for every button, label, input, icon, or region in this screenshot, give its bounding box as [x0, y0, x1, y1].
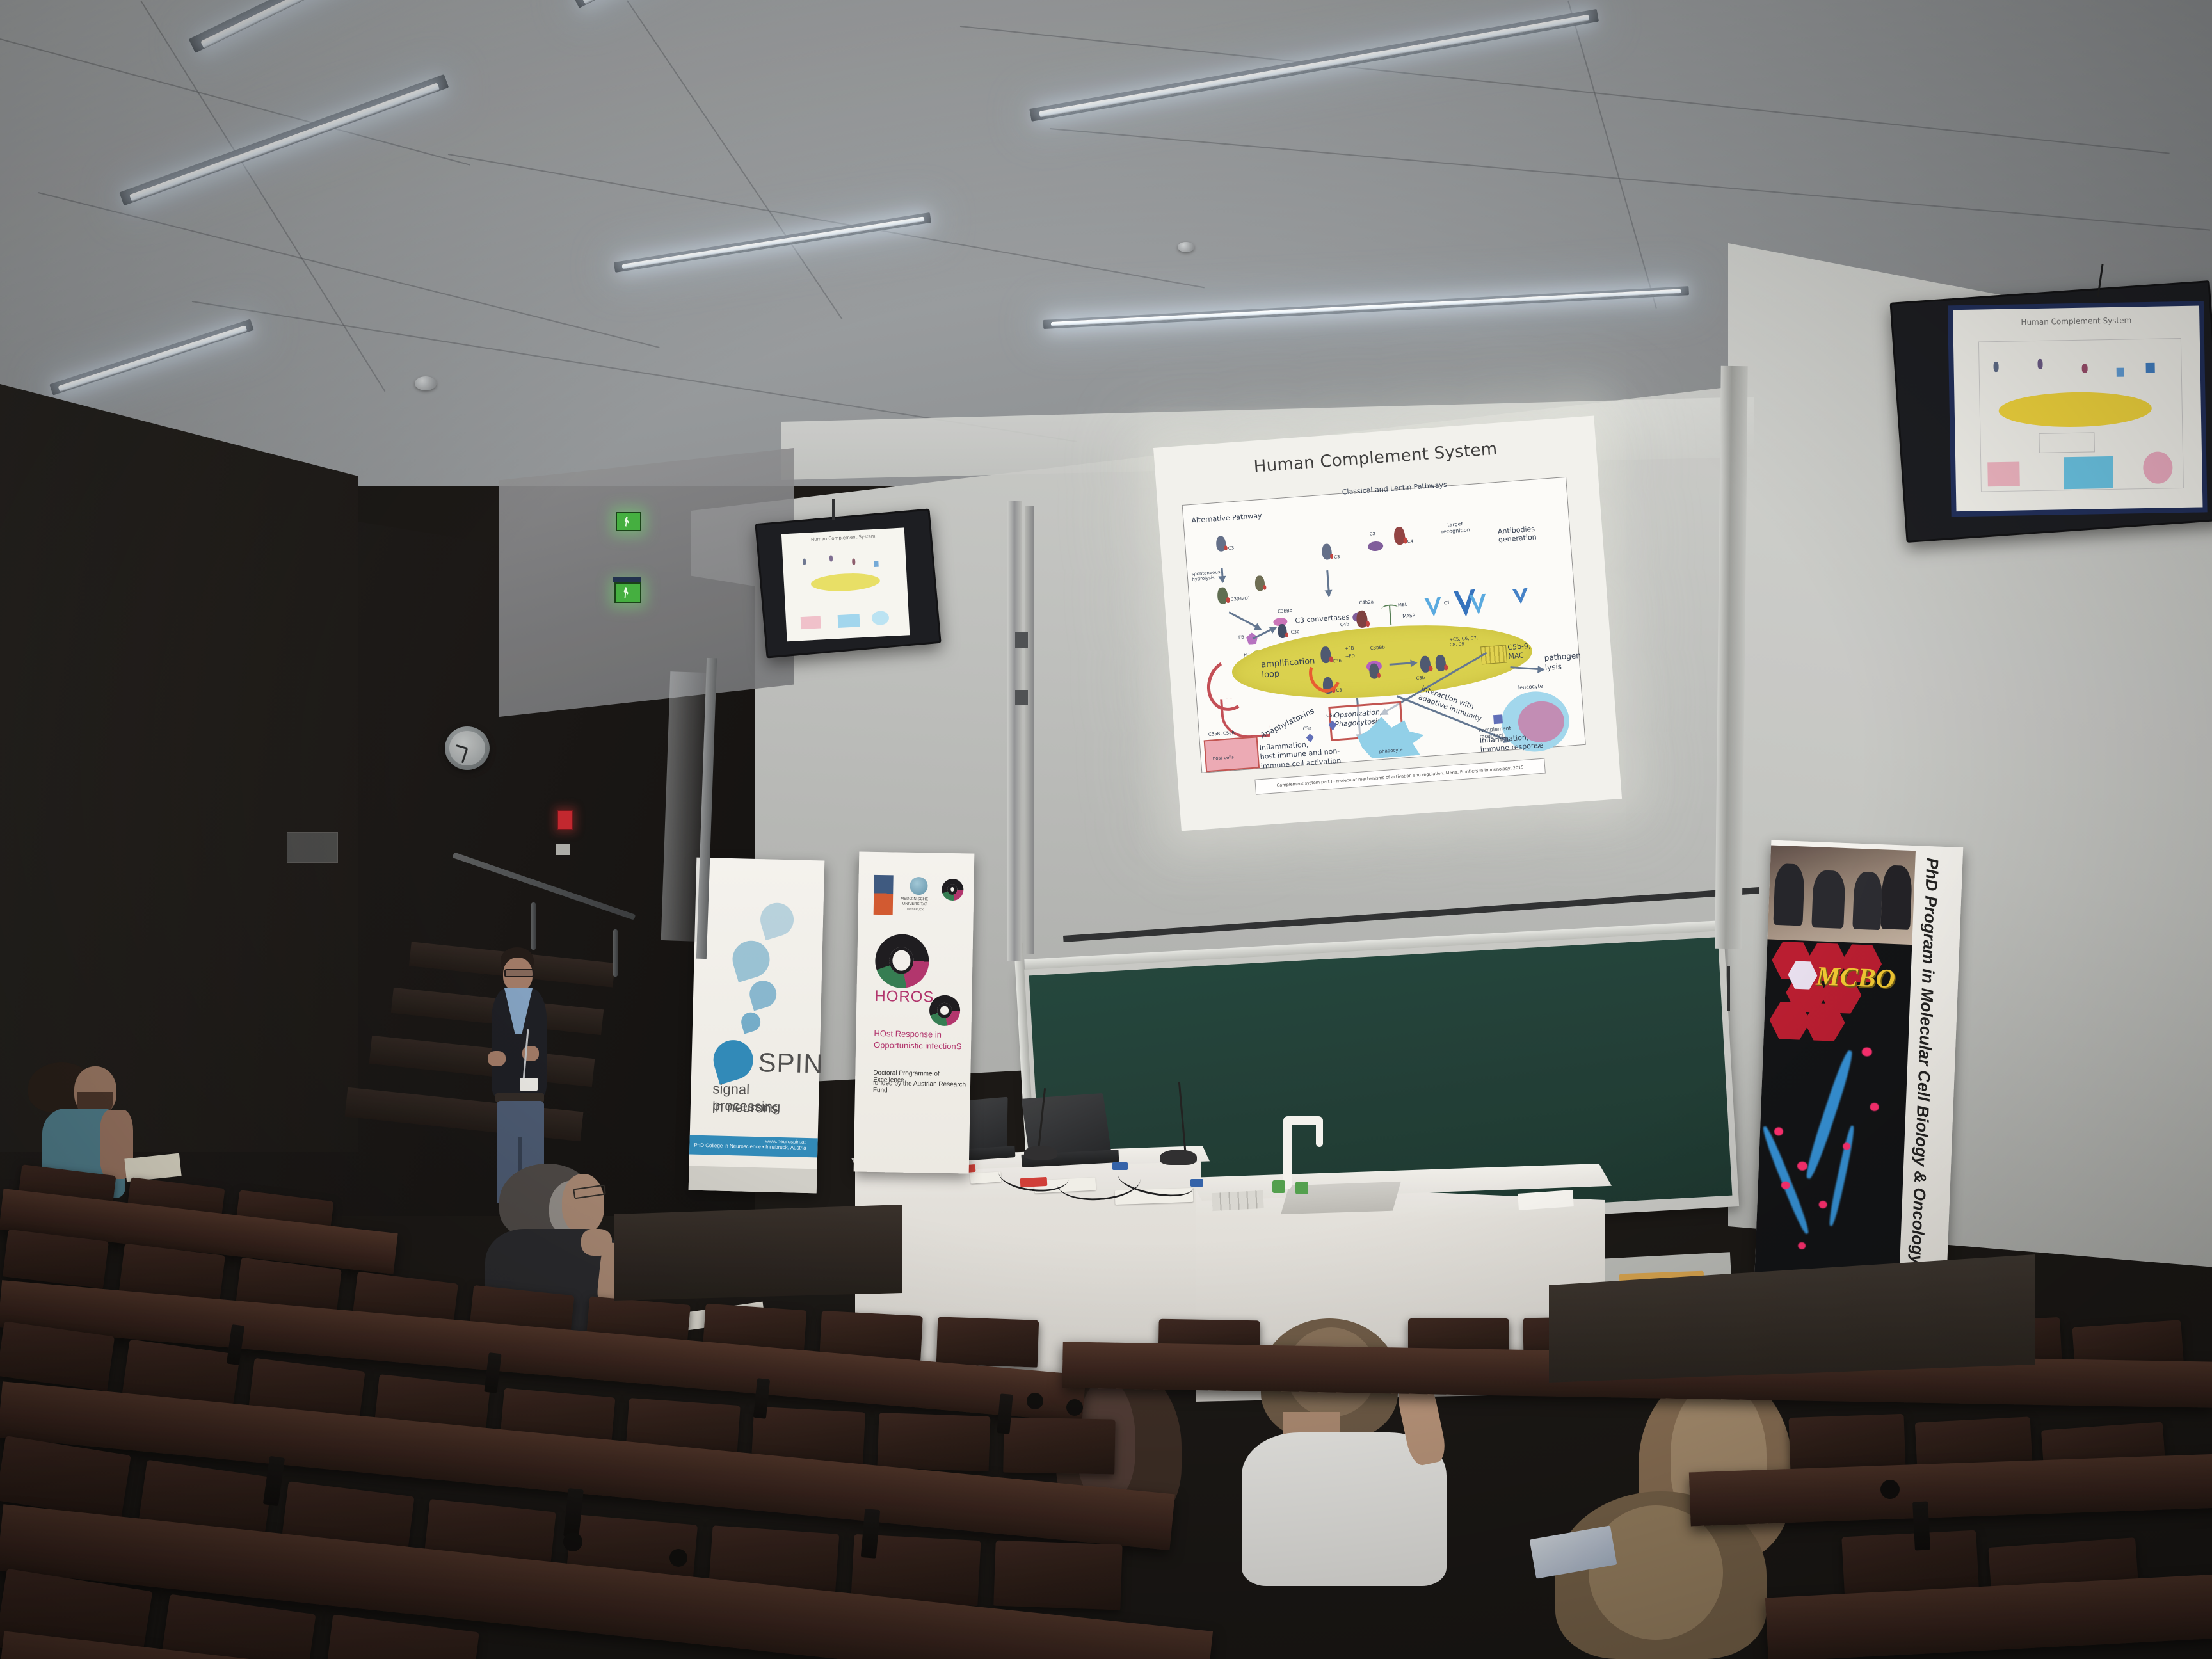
uni-logo-2-seal [910, 877, 927, 895]
spin-footer-url: www.neurospin.at [765, 1138, 805, 1145]
faucet-nozzle [1316, 1120, 1323, 1147]
horos-falcon-small-right [929, 995, 961, 1026]
screen-support-post-left [1007, 501, 1022, 961]
banner-spin: SPIN signal processing in neurons PhD Co… [689, 858, 825, 1194]
horos-falcon-main [875, 934, 929, 988]
figure-label-classical-lectin: Classical and Lectin Pathways [1342, 481, 1447, 497]
blue-connector [1112, 1162, 1128, 1170]
exit-sign-lower-bracket [613, 577, 641, 582]
right-monitor-screen: Human Complement System [1953, 306, 2202, 512]
seat-hinge-1 [1027, 1393, 1043, 1409]
right-wall-monitor: Human Complement System [1889, 280, 2212, 543]
seat-r3-c9[interactable] [1003, 1417, 1115, 1474]
mcbo-photo-person-1 [1773, 863, 1805, 926]
projection-screen-area: Human Complement System Alternative Path… [1153, 415, 1629, 838]
seat-r2-c9[interactable] [936, 1317, 1039, 1367]
faucet-valve-right[interactable] [1295, 1182, 1308, 1194]
uni-logo-2-line3: INNSBRUCK [907, 908, 924, 911]
power-strip-2 [970, 1171, 1002, 1183]
fire-alarm-button[interactable] [557, 810, 573, 830]
horos-funding-line2: funded by the Austrian Research Fund [873, 1080, 970, 1096]
projection-screen: Human Complement System Alternative Path… [1153, 415, 1622, 831]
exit-sign-lower [614, 582, 641, 603]
stair-handrail-post-2 [613, 929, 618, 977]
mcbo-photo-person-3 [1852, 872, 1882, 931]
left-monitor-slide-title: Human Complement System [781, 532, 904, 543]
faucet-valve-left[interactable] [1272, 1180, 1285, 1193]
screen-pull-cord [1727, 966, 1730, 1011]
seat-hinge-2 [1066, 1399, 1083, 1416]
seat-hinge-3 [1880, 1480, 1900, 1499]
grey-man-head [562, 1174, 604, 1233]
mcbo-photo-person-4 [1880, 865, 1912, 930]
banner-horos: MEDIZINISCHE UNIVERSITAT INNSBRUCK HOROS… [854, 851, 975, 1173]
presenter-glasses [504, 969, 534, 977]
keypad-panel[interactable] [1212, 1190, 1263, 1211]
horos-line2: Opportunistic infectionS [874, 1040, 962, 1051]
wall-notice [556, 844, 570, 855]
spin-line2: in neurons [712, 1098, 778, 1117]
mcbo-acronym: MCBO [1815, 961, 1895, 995]
horos-acronym: HOROS [874, 988, 934, 1007]
left-wall-monitor: Human Complement System [755, 508, 941, 658]
amplification-loop-label: amplificationloop [1261, 656, 1316, 681]
left-wall-poster [287, 832, 338, 863]
presenter-name-badge [520, 1078, 538, 1091]
smoke-detector-3 [1178, 242, 1194, 252]
uni-logo-2-line2: UNIVERSITAT [902, 902, 927, 907]
smoke-detector-1 [415, 376, 437, 390]
screen-support-bracket-1 [1015, 632, 1028, 648]
left-upper-wall [499, 448, 794, 717]
exit-sign-upper [616, 512, 641, 531]
horos-line1: HOst Response in [874, 1029, 942, 1039]
left-dark-wall-panel [0, 384, 358, 1152]
spin-acronym: SPIN [758, 1047, 824, 1079]
screen-support-bracket-2 [1015, 690, 1028, 705]
left-monitor-screen: Human Complement System [781, 527, 910, 641]
microphone-base-2 [1160, 1150, 1197, 1165]
microphone-base-1 [1024, 1146, 1057, 1160]
right-monitor-slide-title: Human Complement System [1953, 315, 2199, 328]
uni-logo-1 [874, 875, 894, 915]
horos-falcon-small-top [942, 879, 964, 901]
stair-handrail-post-1 [531, 902, 536, 950]
seat-r5-c3[interactable] [323, 1614, 479, 1659]
presenter-hand-left [488, 1051, 506, 1066]
seat-hinge-4 [563, 1532, 582, 1551]
seat-r5-c2[interactable] [159, 1594, 316, 1659]
seat-r3-c8[interactable] [878, 1413, 991, 1471]
seat-r4-c8[interactable] [993, 1541, 1122, 1610]
mcbo-photo-person-2 [1811, 870, 1845, 929]
wall-clock [445, 726, 490, 770]
desk-row-4b [1765, 1574, 2212, 1659]
lecture-hall-photo: Human Complement System Human Complement… [0, 0, 2212, 1659]
screen-support-post-left-2 [1025, 506, 1034, 954]
figure-frame: Alternative Pathway Classical and Lectin… [1182, 477, 1586, 773]
floor-left-aisle [614, 1205, 902, 1301]
left-monitor-mount [832, 499, 835, 520]
blue-connector-2 [1190, 1179, 1203, 1187]
faucet-column [1283, 1119, 1292, 1189]
spin-banner-foot [689, 1166, 817, 1193]
seat-armrail-8 [1912, 1501, 1930, 1550]
spin-logo [709, 1036, 758, 1085]
seat-armrail-5 [263, 1456, 285, 1507]
uni-logo-2-line1: MEDIZINISCHE [901, 897, 928, 902]
figure-label-alternative-pathway: Alternative Pathway [1191, 511, 1262, 525]
seat-hinge-5 [669, 1549, 687, 1567]
